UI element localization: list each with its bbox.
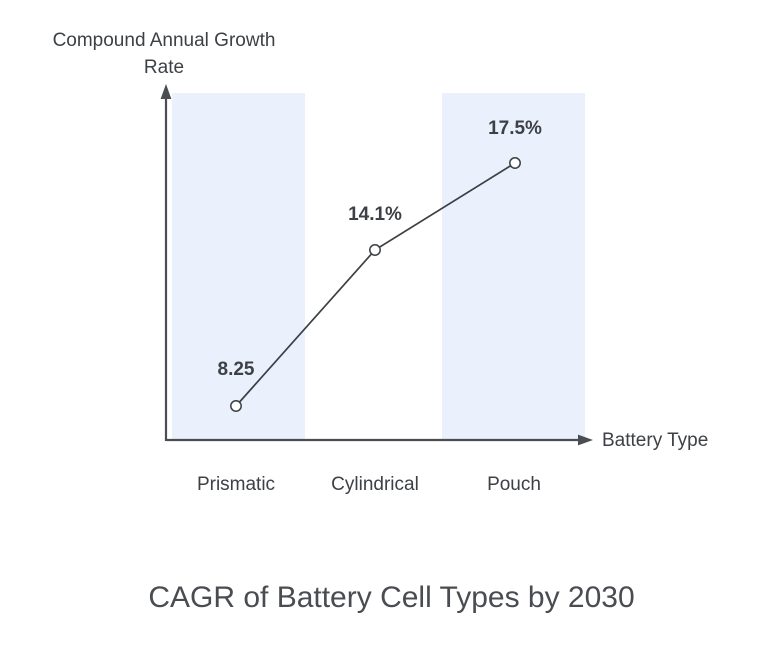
category-band-prismatic	[172, 93, 305, 440]
x-axis-title: Battery Type	[602, 429, 708, 453]
data-label-prismatic: 8.25	[218, 358, 255, 382]
data-label-cylindrical: 14.1%	[348, 203, 402, 227]
data-point-marker-cylindrical[interactable]	[370, 245, 380, 255]
data-point-marker-pouch[interactable]	[510, 158, 520, 168]
x-axis-tick-label-pouch: Pouch	[487, 473, 541, 497]
chart-container: Compound Annual GrowthRate 8.25 14.1% 17…	[0, 0, 783, 654]
x-axis-tick-label-prismatic: Prismatic	[197, 473, 275, 497]
chart-title: CAGR of Battery Cell Types by 2030	[0, 578, 783, 618]
y-axis-arrowhead-icon	[161, 84, 172, 99]
plot-area	[0, 0, 783, 654]
data-label-pouch: 17.5%	[488, 117, 542, 141]
data-point-marker-prismatic[interactable]	[231, 401, 241, 411]
x-axis-arrowhead-icon	[578, 435, 593, 446]
x-axis-tick-label-cylindrical: Cylindrical	[331, 473, 419, 497]
category-band-pouch	[442, 93, 585, 440]
